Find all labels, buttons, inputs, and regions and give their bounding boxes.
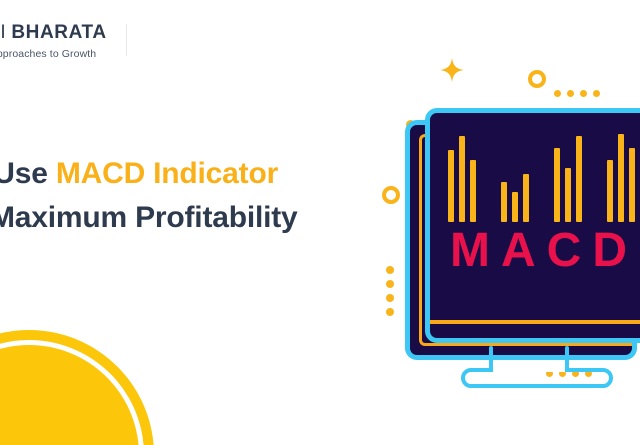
macd-wordmark: MACD bbox=[450, 225, 638, 277]
headline-line-1-text: w Use bbox=[0, 157, 56, 190]
macd-monitor-illustration: MACD bbox=[378, 58, 640, 388]
bar bbox=[565, 168, 571, 222]
monitor-inner-stripe bbox=[430, 320, 640, 324]
brand-logo: DIGI BHARATA New Approaches to Growth bbox=[0, 22, 126, 64]
headline: w Use MACD Indicator Maximum Profitabili… bbox=[0, 152, 392, 240]
dot-icon bbox=[386, 308, 394, 316]
bar-group bbox=[448, 127, 492, 222]
bar bbox=[523, 174, 529, 222]
bar bbox=[629, 148, 635, 222]
dot-icon bbox=[386, 280, 394, 288]
bar bbox=[470, 160, 476, 222]
bar bbox=[554, 148, 560, 222]
headline-accent-text: MACD Indicator bbox=[56, 157, 278, 190]
bar bbox=[607, 160, 613, 222]
sparkle-icon-top bbox=[440, 58, 464, 82]
bar-group bbox=[501, 127, 545, 222]
dot-icon bbox=[580, 90, 587, 97]
brand-name-bold: BHARATA bbox=[11, 22, 106, 43]
bar bbox=[576, 136, 582, 222]
bar bbox=[618, 134, 624, 222]
macd-bar-chart bbox=[448, 127, 640, 222]
corner-circle-inner bbox=[0, 346, 138, 445]
dot-icon bbox=[593, 90, 600, 97]
monitor-stand bbox=[461, 346, 613, 390]
dot-icon bbox=[386, 266, 394, 274]
dot-icon bbox=[554, 90, 561, 97]
bar bbox=[501, 182, 507, 222]
bar-group bbox=[607, 127, 640, 222]
poster-canvas: DIGI BHARATA New Approaches to Growth w … bbox=[0, 0, 640, 445]
ring-icon-left bbox=[382, 186, 400, 204]
monitor-screen: MACD bbox=[425, 108, 640, 343]
dot-icon bbox=[567, 90, 574, 97]
brand-tagline: New Approaches to Growth bbox=[0, 47, 126, 61]
bar bbox=[512, 192, 518, 222]
headline-line-1: w Use MACD Indicator bbox=[0, 152, 392, 196]
brand-divider bbox=[126, 24, 127, 56]
monitor-stand-gap-mask bbox=[493, 364, 565, 372]
bar bbox=[448, 150, 454, 222]
bar-group bbox=[554, 127, 598, 222]
brand-name: DIGI BHARATA bbox=[0, 22, 126, 44]
ring-icon-top bbox=[528, 70, 546, 88]
headline-line-2: Maximum Profitability bbox=[0, 196, 392, 240]
bar bbox=[459, 136, 465, 222]
dot-icon bbox=[386, 294, 394, 302]
